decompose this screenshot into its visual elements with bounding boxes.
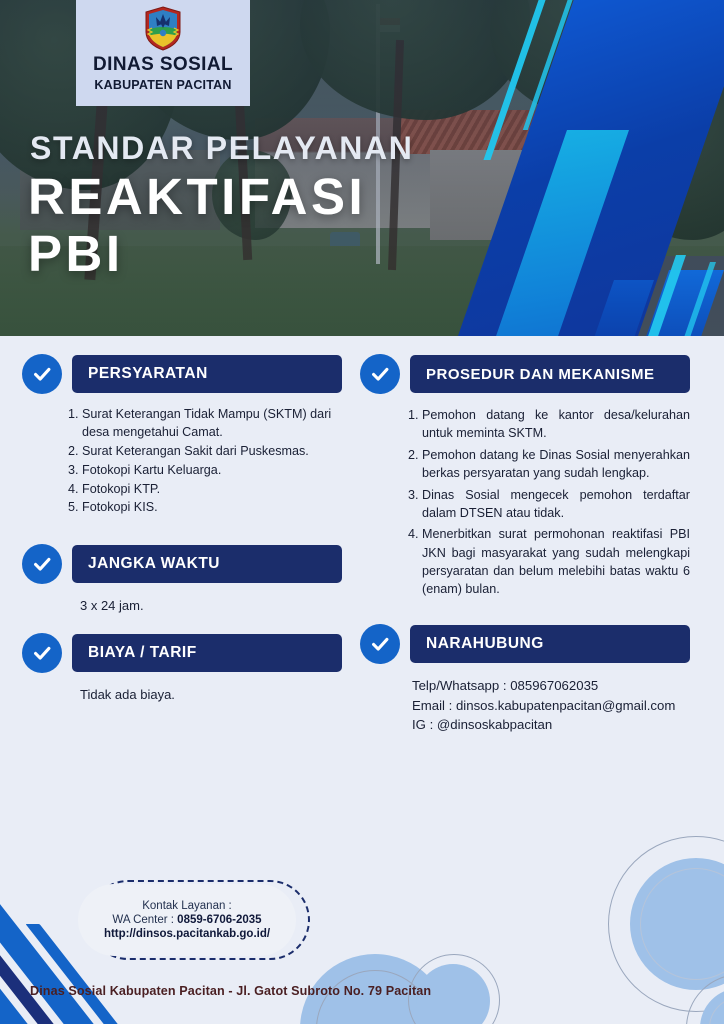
check-circle-icon — [22, 544, 62, 584]
poster-title: REAKTIFASI PBI — [28, 168, 366, 282]
jangka-waktu-value: 3 x 24 jam. — [80, 598, 342, 613]
contact-email: Email : dinsos.kabupatenpacitan@gmail.co… — [412, 696, 690, 716]
check-mark-icon — [369, 363, 391, 385]
list-item: Surat Keterangan Sakit dari Puskesmas. — [82, 443, 342, 461]
check-mark-icon — [31, 553, 53, 575]
check-circle-icon — [22, 633, 62, 673]
section-header-narahubung: NARAHUBUNG — [360, 624, 690, 664]
check-mark-icon — [31, 642, 53, 664]
poster-title-line-2: PBI — [28, 225, 366, 282]
section-title-biaya: BIAYA / TARIF — [72, 634, 342, 672]
section-header-jangka-waktu: JANGKA WAKTU — [22, 544, 342, 584]
section-header-persyaratan: PERSYARATAN — [22, 354, 342, 394]
header-photo-banner: DINAS SOSIAL KABUPATEN PACITAN STANDAR P… — [0, 0, 724, 336]
kontak-website-url[interactable]: http://dinsos.pacitankab.go.id/ — [104, 928, 270, 940]
contact-instagram: IG : @dinsoskabpacitan — [412, 715, 690, 735]
list-item: Fotokopi KTP. — [82, 481, 342, 499]
prosedur-list: Pemohon datang ke kantor desa/kelurahan … — [402, 406, 690, 599]
agency-region: KABUPATEN PACITAN — [94, 78, 231, 92]
footer-address: Dinas Sosial Kabupaten Pacitan - Jl. Gat… — [30, 984, 431, 998]
agency-name: DINAS SOSIAL — [93, 54, 233, 76]
check-mark-icon — [369, 633, 391, 655]
poster-root: DINAS SOSIAL KABUPATEN PACITAN STANDAR P… — [0, 0, 724, 1024]
kontak-layanan-pill: Kontak Layanan : WA Center : 0859-6706-2… — [78, 884, 296, 956]
poster-kicker: STANDAR PELAYANAN — [30, 130, 413, 167]
left-column: PERSYARATAN Surat Keterangan Tidak Mampu… — [22, 354, 342, 702]
list-item: Dinas Sosial mengecek pemohon terdaftar … — [422, 486, 690, 523]
kontak-wa-number: 0859-6706-2035 — [177, 914, 261, 926]
check-circle-icon — [360, 354, 400, 394]
circle-filled — [700, 988, 724, 1024]
kontak-label: Kontak Layanan : — [142, 900, 232, 912]
section-title-persyaratan: PERSYARATAN — [72, 355, 342, 393]
persyaratan-list: Surat Keterangan Tidak Mampu (SKTM) dari… — [64, 406, 342, 517]
kontak-wa-center: WA Center : 0859-6706-2035 — [112, 914, 261, 926]
section-title-prosedur: PROSEDUR DAN MEKANISME — [410, 355, 690, 393]
check-mark-icon — [31, 363, 53, 385]
circle-outline — [686, 974, 724, 1024]
list-item: Fotokopi KIS. — [82, 499, 342, 517]
circle-outline — [709, 997, 724, 1024]
section-title-jangka-waktu: JANGKA WAKTU — [72, 545, 342, 583]
list-item: Pemohon datang ke kantor desa/kelurahan … — [422, 406, 690, 443]
pacitan-regency-crest-icon — [143, 6, 183, 51]
section-title-narahubung: NARAHUBUNG — [410, 625, 690, 663]
contact-phone: Telp/Whatsapp : 085967062035 — [412, 676, 690, 696]
section-header-biaya: BIAYA / TARIF — [22, 633, 342, 673]
circle-outline — [608, 836, 724, 1012]
agency-logo-card: DINAS SOSIAL KABUPATEN PACITAN — [76, 0, 250, 106]
narahubung-details: Telp/Whatsapp : 085967062035 Email : din… — [412, 676, 690, 735]
list-item: Fotokopi Kartu Keluarga. — [82, 462, 342, 480]
list-item: Surat Keterangan Tidak Mampu (SKTM) dari… — [82, 406, 342, 442]
biaya-value: Tidak ada biaya. — [80, 687, 342, 702]
right-column: PROSEDUR DAN MEKANISME Pemohon datang ke… — [360, 354, 690, 735]
check-circle-icon — [22, 354, 62, 394]
list-item: Pemohon datang ke Dinas Sosial menyerahk… — [422, 446, 690, 483]
circle-filled — [630, 858, 724, 990]
kontak-wa-label: WA Center : — [112, 914, 177, 926]
list-item: Menerbitkan surat permohonan reaktifasi … — [422, 525, 690, 599]
check-circle-icon — [360, 624, 400, 664]
poster-title-line-1: REAKTIFASI — [28, 168, 366, 225]
circle-outline — [640, 868, 724, 980]
section-header-prosedur: PROSEDUR DAN MEKANISME — [360, 354, 690, 394]
